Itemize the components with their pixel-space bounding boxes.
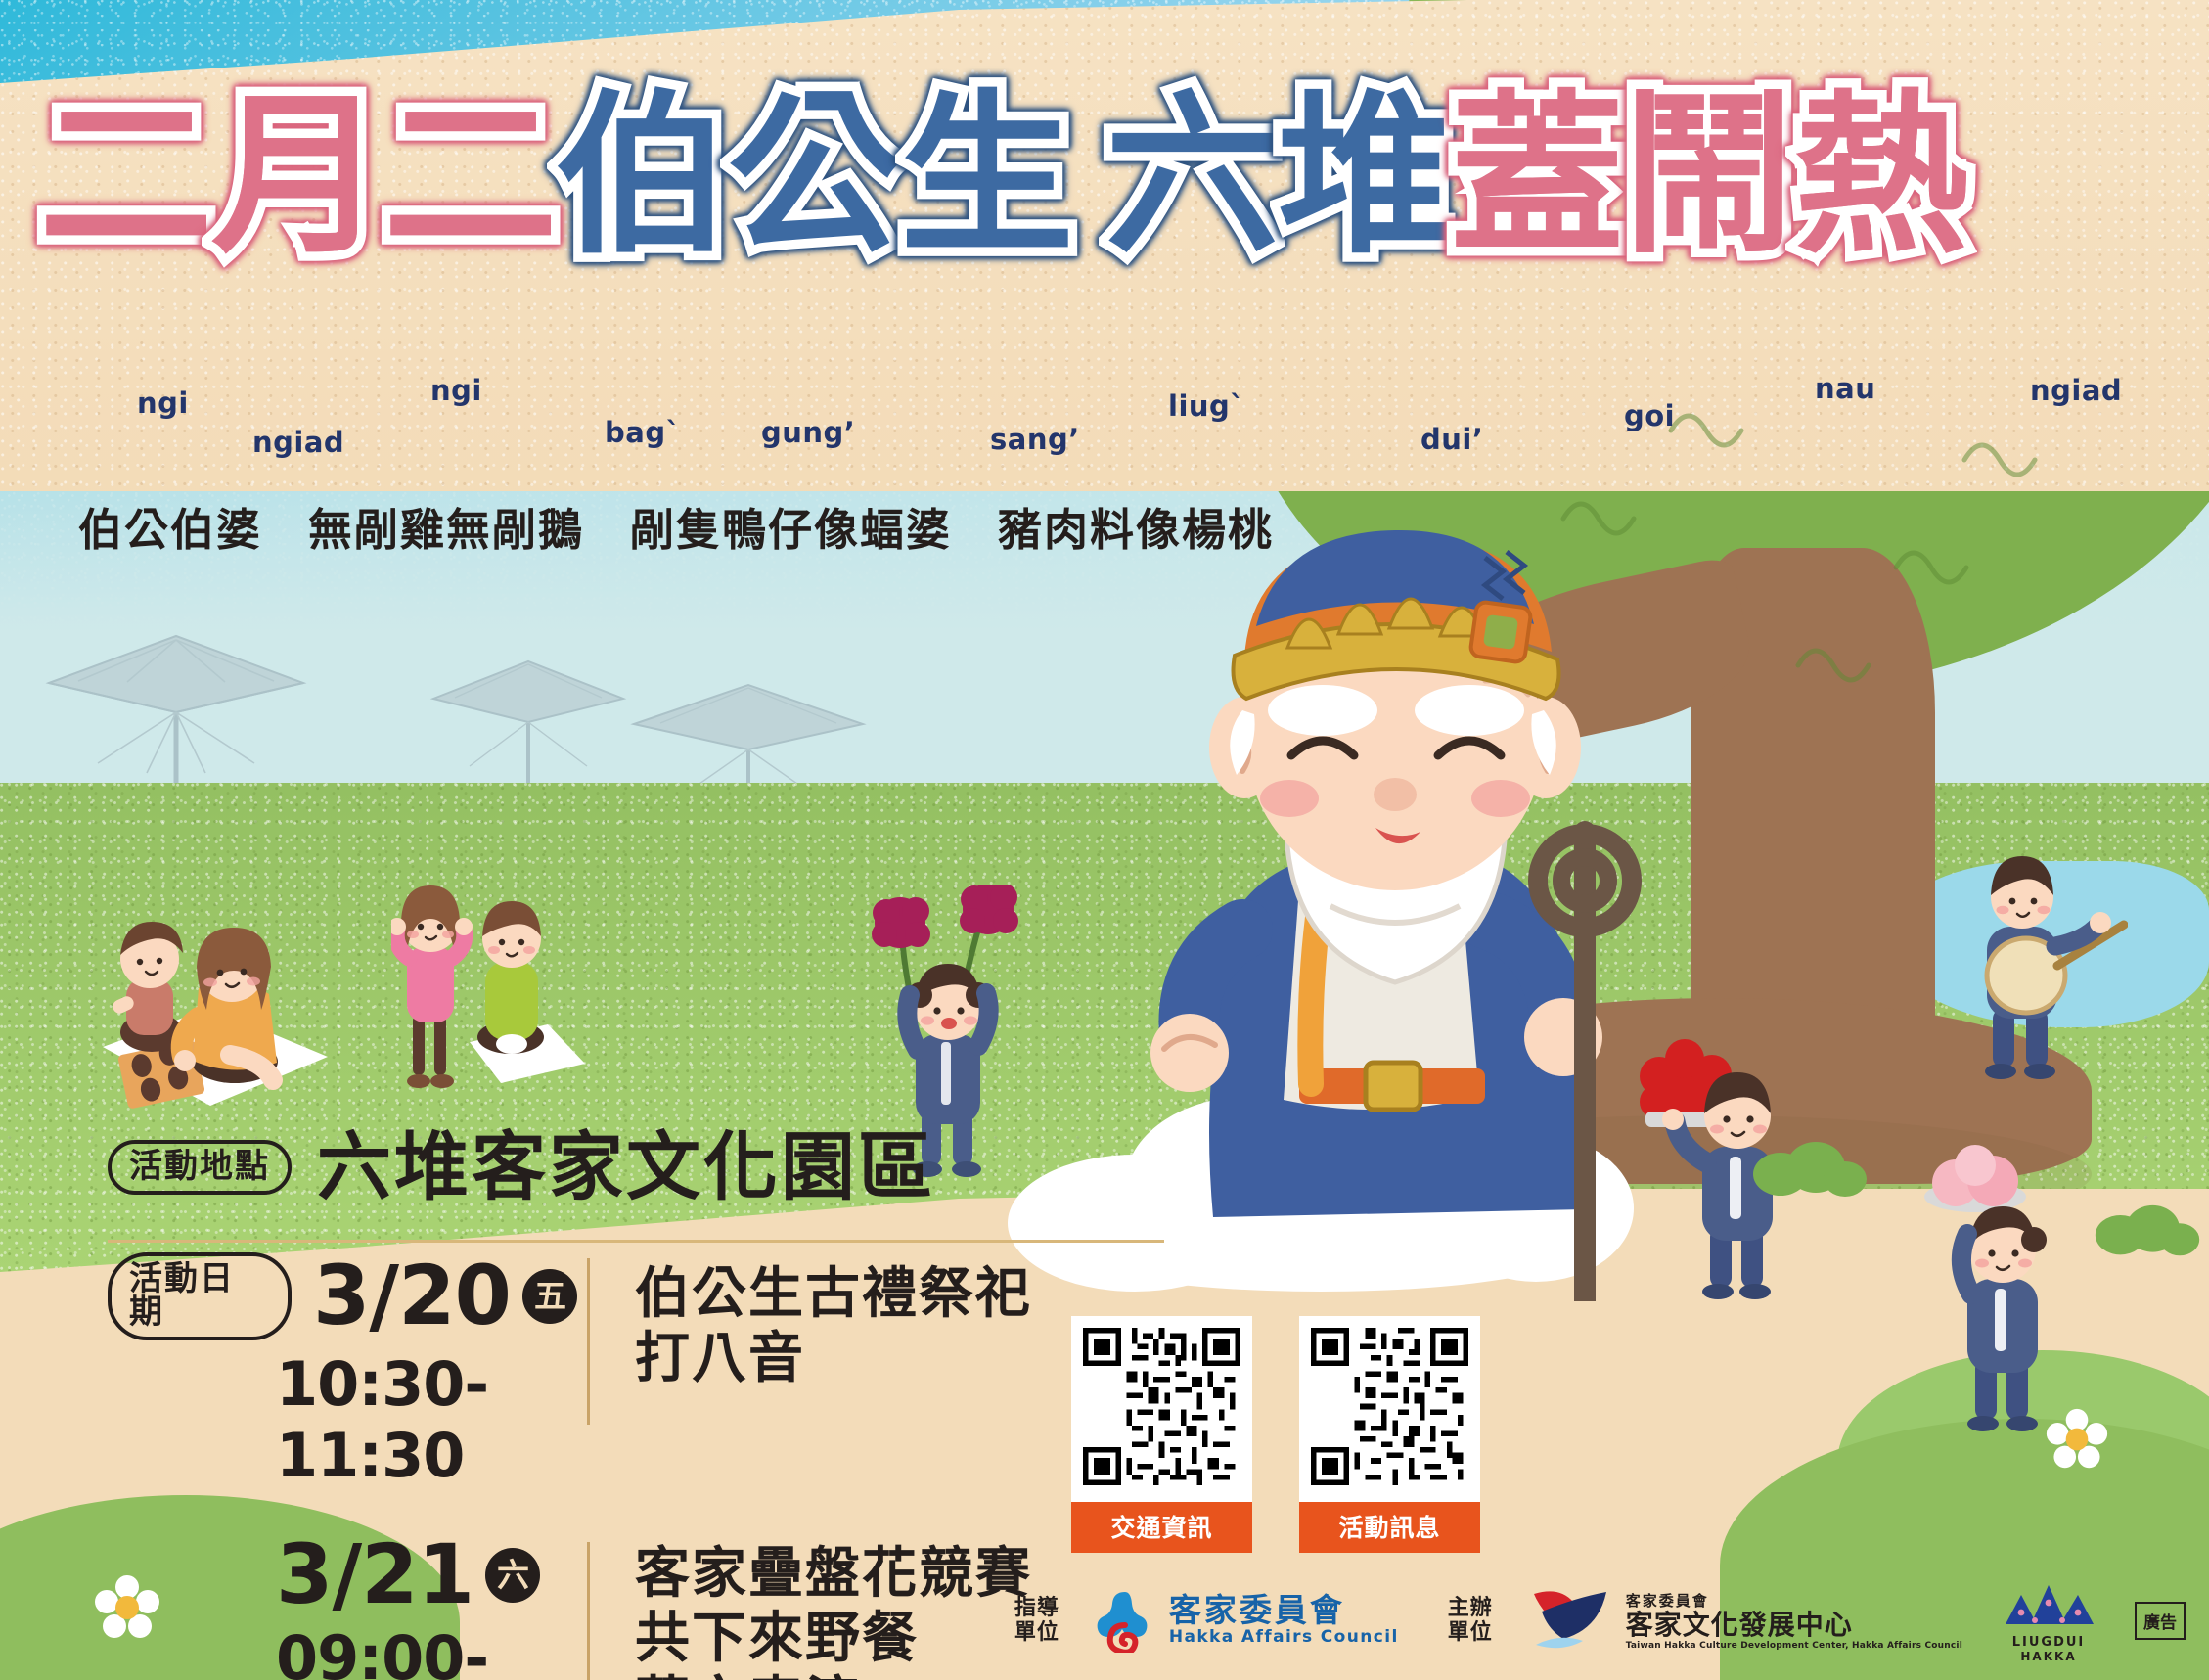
hakka-council-name-cn: 客家委員會 bbox=[1169, 1594, 1399, 1628]
program-list-1: 伯公生古禮祭祀 打八音 bbox=[635, 1262, 1032, 1391]
venue-label-pill: 活動地點 bbox=[108, 1140, 292, 1195]
poster-subtitle: 伯公伯婆 無剮雞無剮鵝 剮隻鴨仔像蝠婆 豬肉料像楊桃 bbox=[78, 494, 1274, 558]
date-left-1: 活動日期 3/20 五 10:30-11:30 bbox=[108, 1252, 577, 1491]
date-label-pill: 活動日期 bbox=[108, 1252, 292, 1340]
advertisement-mark: 廣告 bbox=[2135, 1602, 2186, 1640]
thcdc-bird-emblem-icon bbox=[1526, 1584, 1616, 1657]
info-divider bbox=[108, 1240, 1164, 1243]
qr-code-icon[interactable] bbox=[1299, 1316, 1480, 1497]
picnic-group-left bbox=[93, 861, 386, 1115]
liugdui-mountain-icon bbox=[1996, 1577, 2101, 1630]
organizer-unit-line1: 主辦 bbox=[1448, 1596, 1493, 1620]
organizer-unit-label: 主辦 單位 bbox=[1448, 1596, 1493, 1646]
guidance-unit-line1: 指導 bbox=[1014, 1596, 1059, 1620]
time-range-1: 10:30-11:30 bbox=[276, 1348, 577, 1491]
standing-pair-group bbox=[391, 837, 587, 1120]
qr-card-transport[interactable]: 交通資訊 bbox=[1071, 1316, 1252, 1553]
hakka-culture-development-center-logo: 客家委員會 客家文化發展中心 Taiwan Hakka Culture Deve… bbox=[1526, 1584, 1962, 1657]
liugdui-hakka-logo: LIUGDUI HAKKA bbox=[1996, 1577, 2101, 1663]
qr-code-icon[interactable] bbox=[1071, 1316, 1252, 1497]
hakka-council-name-en: Hakka Affairs Council bbox=[1169, 1627, 1399, 1647]
musician-with-moon-lute bbox=[1932, 817, 2128, 1081]
date-value-1: 3/20 五 bbox=[313, 1257, 577, 1336]
program-item: 伯公生古禮祭祀 bbox=[635, 1262, 1032, 1327]
thcdc-name-en: Taiwan Hakka Culture Development Center,… bbox=[1626, 1641, 1962, 1651]
venue-name: 六堆客家文化園區 bbox=[317, 1130, 935, 1204]
date-row-1: 活動日期 3/20 五 10:30-11:30 伯公生古禮祭祀 打八音 bbox=[108, 1252, 1164, 1491]
footer-logos: 指導 單位 客家委員會 Hakka Affairs Council 主辦 單位 bbox=[0, 1566, 2209, 1674]
weekday-badge-1: 五 bbox=[522, 1269, 577, 1324]
date-text-1: 3/20 bbox=[313, 1257, 511, 1336]
bush-tuft bbox=[2094, 1194, 2201, 1258]
thcdc-parent-org: 客家委員會 bbox=[1626, 1590, 1962, 1611]
qr-label-event-info[interactable]: 活動訊息 bbox=[1299, 1502, 1480, 1553]
qr-label-transport[interactable]: 交通資訊 bbox=[1071, 1502, 1252, 1553]
qr-code-area: 交通資訊 bbox=[1071, 1316, 1480, 1553]
guidance-unit-label: 指導 單位 bbox=[1014, 1596, 1059, 1646]
poster-root: 二 月 二 伯 公 生 六 堆 蓋 鬧 熱 ngi ngiad ngi bag`… bbox=[0, 0, 2209, 1680]
liugdui-name-en-2: HAKKA bbox=[1996, 1650, 2101, 1663]
bush-tuft bbox=[1751, 1130, 1869, 1199]
hakka-council-emblem-icon bbox=[1093, 1588, 1157, 1653]
hakka-affairs-council-logo: 客家委員會 Hakka Affairs Council bbox=[1093, 1588, 1399, 1653]
guidance-unit-line2: 單位 bbox=[1014, 1620, 1059, 1645]
program-item: 打八音 bbox=[635, 1327, 1032, 1391]
program-divider-1 bbox=[587, 1258, 590, 1425]
date-pill-wrap-1: 活動日期 3/20 五 bbox=[108, 1252, 577, 1340]
liugdui-name-en-1: LIUGDUI bbox=[1996, 1635, 2101, 1650]
girl-with-peach-plate bbox=[1913, 1140, 2108, 1433]
organizer-unit-line2: 單位 bbox=[1448, 1620, 1493, 1645]
qr-card-event-info[interactable]: 活動訊息 bbox=[1299, 1316, 1480, 1553]
daisy-flower-icon bbox=[2045, 1407, 2109, 1472]
venue-row: 活動地點 六堆客家文化園區 bbox=[108, 1130, 1164, 1204]
thcdc-name-cn: 客家文化發展中心 bbox=[1626, 1611, 1962, 1641]
bogong-deity-mascot bbox=[1096, 509, 1702, 1301]
